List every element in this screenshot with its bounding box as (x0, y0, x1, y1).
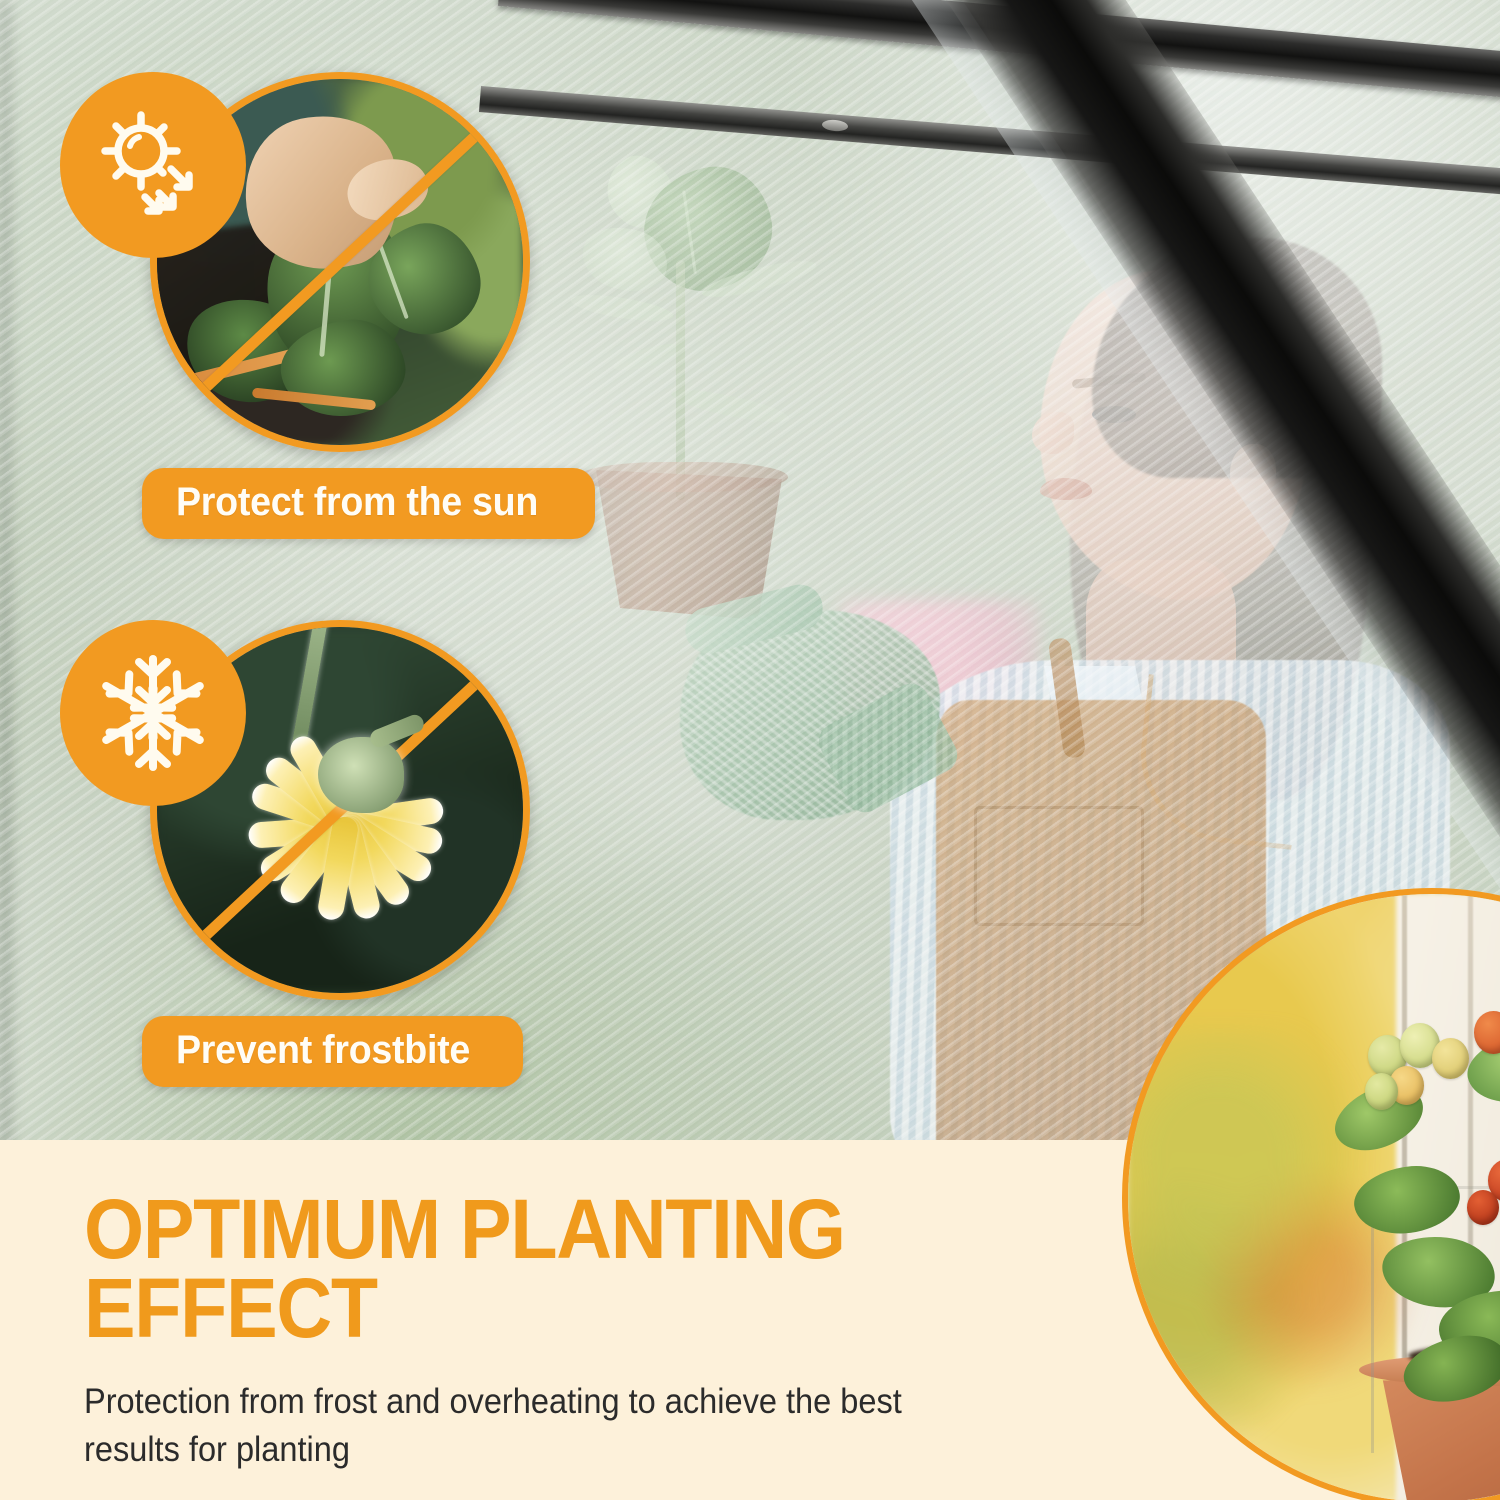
tomato-foliage (1347, 1003, 1500, 1392)
tomato-fruit-green (1365, 1073, 1398, 1110)
page-title: OPTIMUM PLANTING EFFECT (84, 1190, 894, 1348)
snowflake-icon (60, 620, 246, 806)
product-feature-graphic: Protect from the sun (0, 0, 1500, 1500)
page-subtitle: Protection from frost and overheating to… (84, 1378, 921, 1473)
headline-line-2: EFFECT (84, 1269, 894, 1348)
feature-label-sun: Protect from the sun (142, 468, 595, 539)
feature-label-sun-text: Protect from the sun (176, 482, 538, 522)
feature-label-frost: Prevent frostbite (142, 1016, 523, 1087)
tomato-leaf (1350, 1160, 1464, 1240)
tomato-plant-inset (1122, 888, 1500, 1500)
flower-center (318, 737, 404, 813)
sun-with-down-arrows-icon (60, 72, 246, 258)
tomato-fruit-orange (1474, 1011, 1500, 1054)
feature-label-frost-text: Prevent frostbite (176, 1030, 470, 1070)
headline-line-1: OPTIMUM PLANTING (84, 1190, 894, 1269)
tomato-fruit-red (1467, 1190, 1499, 1225)
tomato-fruit-yellow (1432, 1038, 1469, 1079)
